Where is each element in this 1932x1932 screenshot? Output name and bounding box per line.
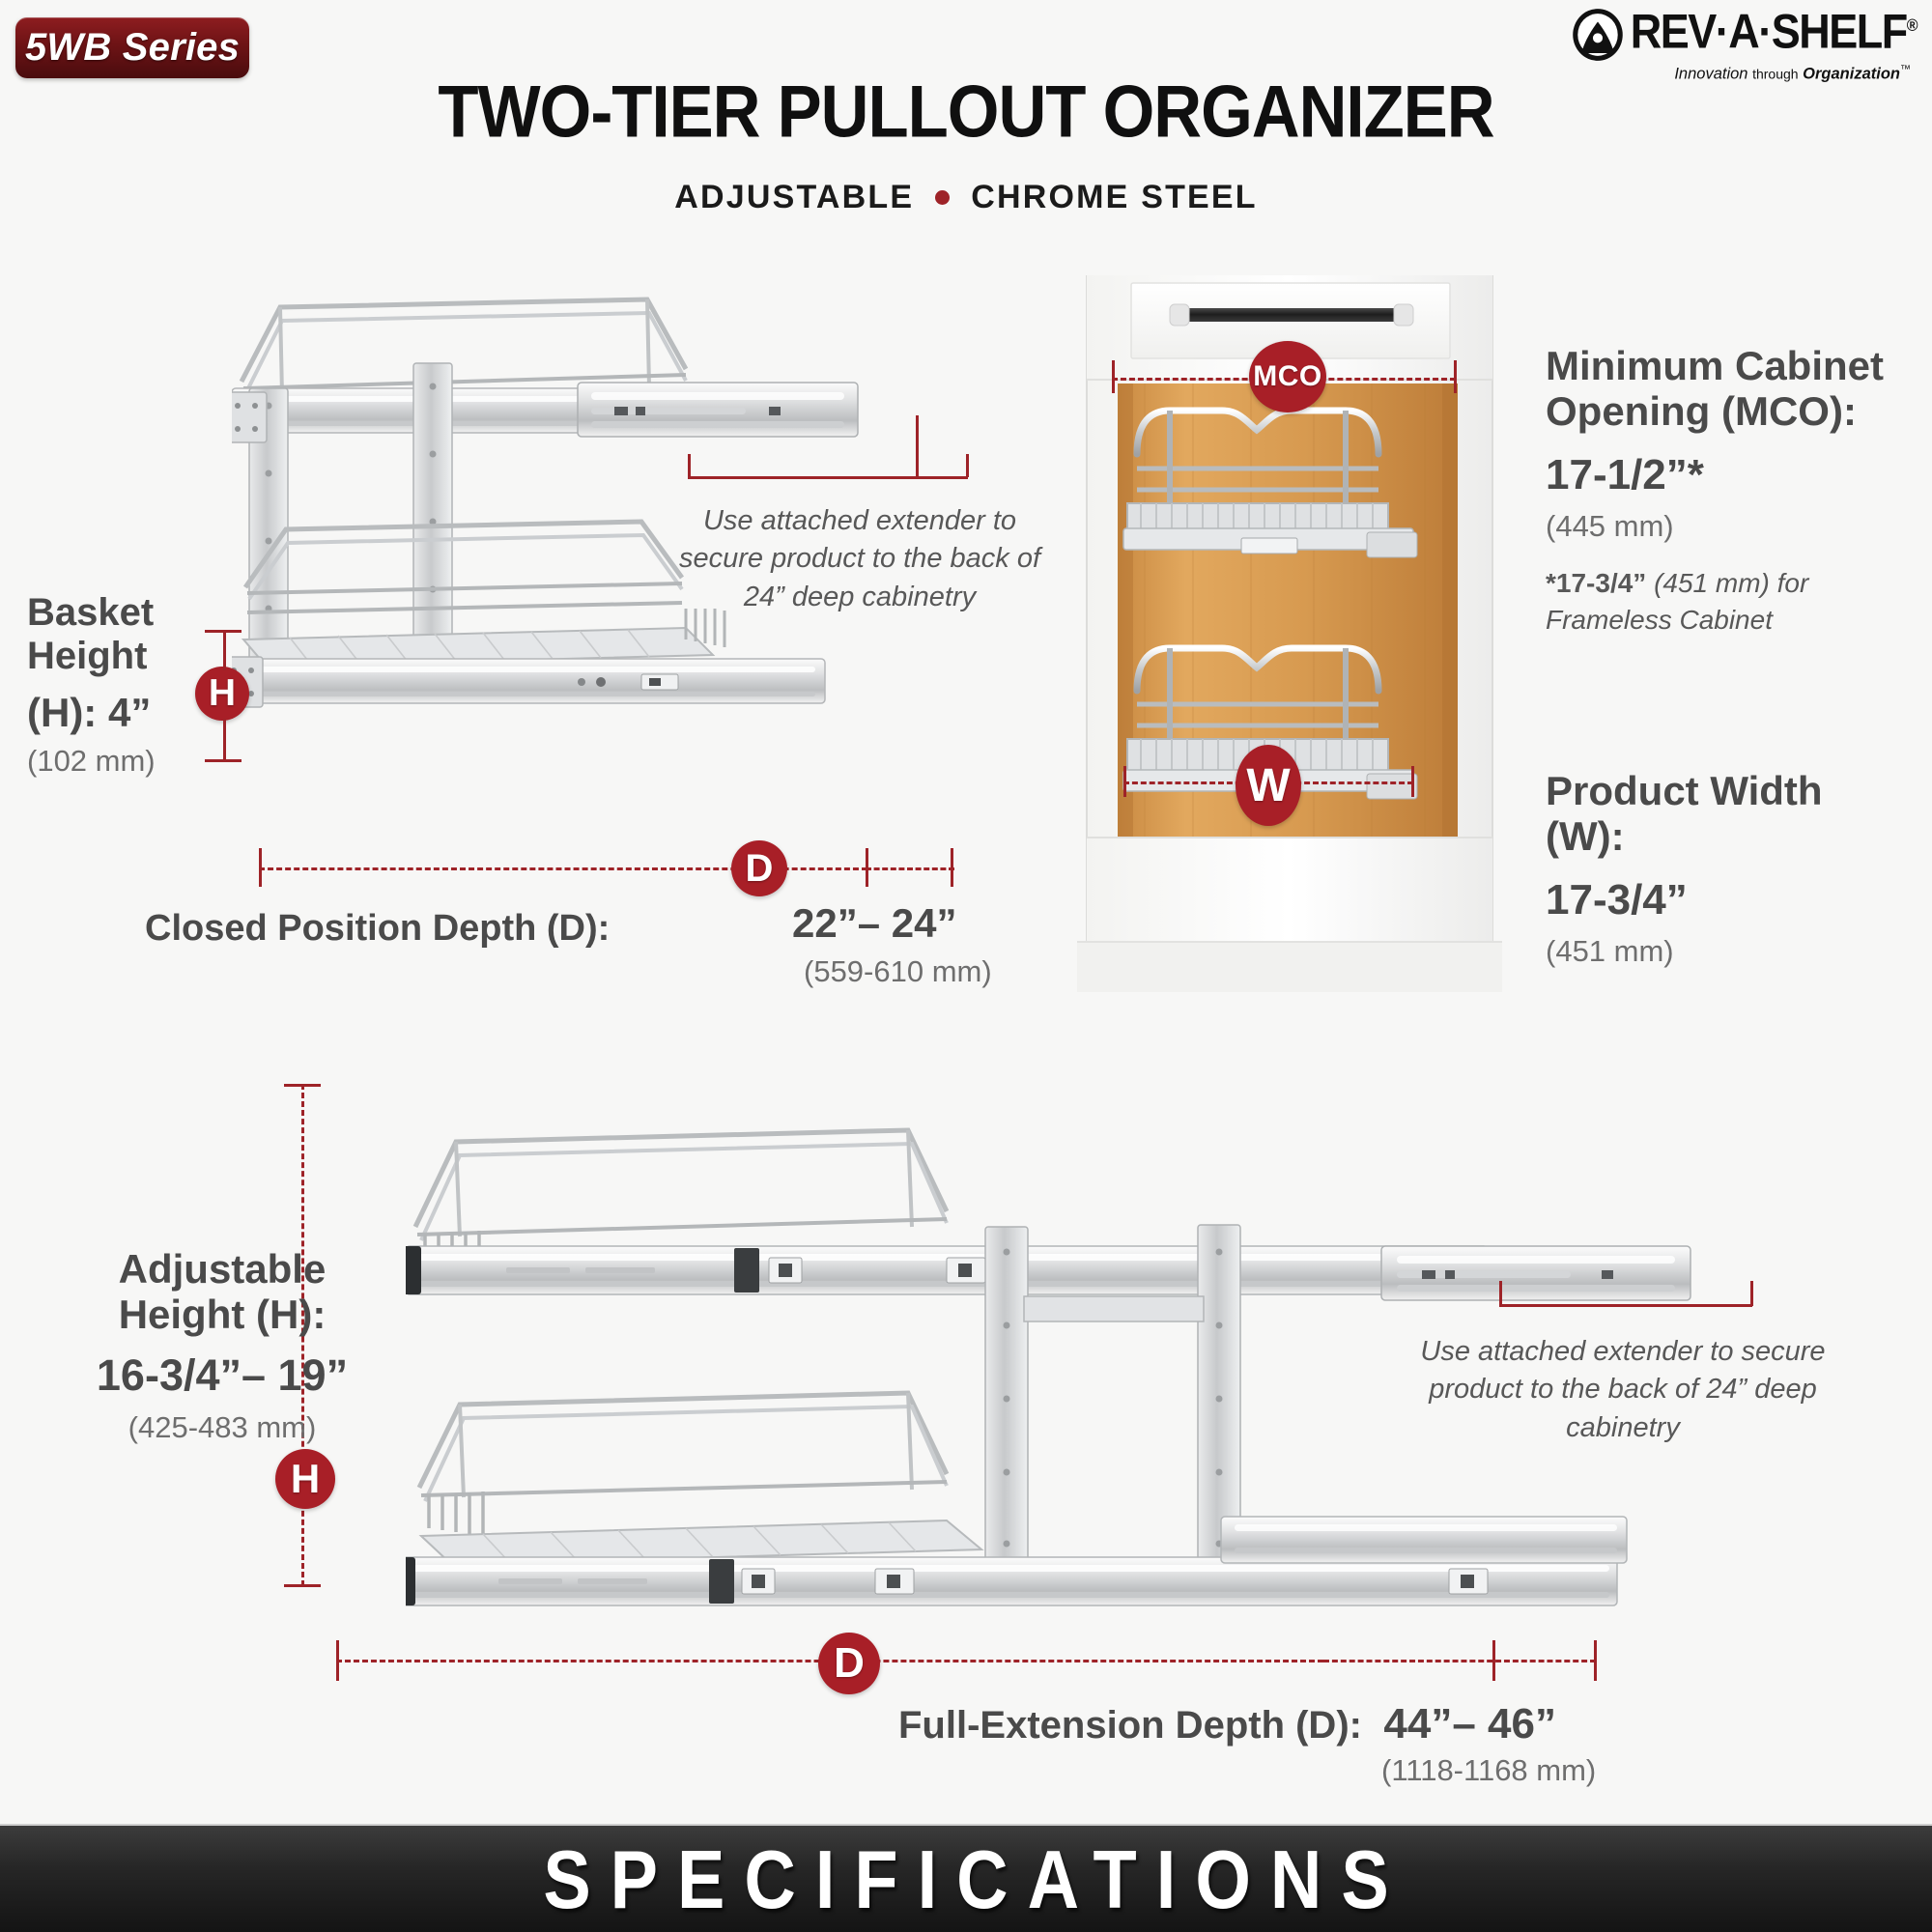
mco-mm: (445 mm) (1546, 509, 1927, 544)
product-width-tick-right (1411, 766, 1414, 797)
extender-note-top: Use attached extender to secure product … (667, 502, 1053, 616)
extender-callout-tick-left-bottom (1499, 1281, 1502, 1306)
full-depth-mm: (1118-1168 mm) (1381, 1753, 1596, 1788)
full-depth-dashline-right (1323, 1660, 1596, 1662)
closed-depth-value-block: 22”– 24” (559-610 mm) (792, 900, 1082, 989)
basket-height-tick-bottom (205, 759, 241, 762)
closed-depth-tick-left (259, 848, 262, 887)
product-width-tick-left (1123, 766, 1126, 797)
mco-footnote: *17-3/4” (451 mm) for Frameless Cabinet (1546, 565, 1927, 639)
adjustable-height-label-line2: Height (H): (87, 1292, 357, 1337)
page-subtitle: ADJUSTABLE CHROME STEEL (0, 179, 1932, 216)
adjustable-height-tick-bottom (284, 1584, 321, 1587)
mco-label-line2: Opening (MCO): (1546, 388, 1927, 434)
closed-depth-label: Closed Position Depth (D): (145, 908, 610, 949)
extender-callout-bracket-bottom (1499, 1304, 1752, 1307)
full-depth-label-block: Full-Extension Depth (D): 44”– 46” (898, 1700, 1575, 1748)
extender-note-bottom: Use attached extender to secure product … (1420, 1333, 1826, 1447)
mco-text-block: Minimum Cabinet Opening (MCO): 17-1/2”* … (1546, 343, 1927, 639)
extender-callout-tick-right-bottom (1750, 1281, 1753, 1306)
closed-depth-mm: (559-610 mm) (804, 954, 1082, 989)
cabinet-front-view-panel: MCO W (1077, 275, 1502, 1009)
product-width-mm: (451 mm) (1546, 934, 1927, 969)
full-depth-tick-left (336, 1640, 339, 1681)
marker-closed-depth-d: D (731, 840, 787, 896)
marker-basket-height-h: H (195, 667, 249, 721)
brand-registered-mark: ® (1907, 16, 1917, 35)
subtitle-adjustable: ADJUSTABLE (674, 179, 914, 216)
basket-height-line-upper (223, 630, 226, 670)
rev-a-shelf-mark-icon (1571, 8, 1625, 62)
subtitle-chrome-steel: CHROME STEEL (971, 179, 1258, 216)
spec-sheet-page: 5WB Series REV·A·SHELF® Innovation throu… (0, 0, 1932, 1932)
specifications-banner-label: SPECIFICATIONS (524, 1832, 1407, 1926)
full-depth-value: 44”– 46” (1383, 1700, 1556, 1747)
marker-adjustable-height-h: H (275, 1449, 335, 1509)
extender-callout-bracket-top-right (916, 476, 968, 479)
closed-depth-value: 22”– 24” (792, 900, 1082, 947)
mco-label-line1: Minimum Cabinet (1546, 343, 1927, 388)
product-width-label-line2: (W): (1546, 813, 1927, 859)
basket-height-mm: (102 mm) (27, 744, 220, 779)
extender-callout-bracket-top (688, 476, 918, 479)
mco-footnote-bold: *17-3/4” (1546, 568, 1646, 598)
extender-callout-tick-left-top (688, 454, 691, 477)
specifications-banner: SPECIFICATIONS (0, 1824, 1932, 1932)
product-width-label-line1: Product Width (1546, 768, 1927, 813)
closed-depth-dashline-ext (866, 867, 954, 870)
mco-value: 17-1/2”* (1546, 451, 1927, 499)
marker-full-depth-d: D (818, 1633, 880, 1694)
full-depth-label: Full-Extension Depth (D): (898, 1704, 1362, 1747)
adjustable-height-mm: (425-483 mm) (87, 1410, 357, 1445)
extender-callout-tick-right-top (966, 454, 969, 477)
mco-tick-right (1454, 360, 1457, 393)
product-width-text-block: Product Width (W): 17-3/4” (451 mm) (1546, 768, 1927, 969)
adjustable-height-label-line1: Adjustable (87, 1246, 357, 1292)
basket-height-label-line2: Height (27, 635, 220, 678)
mco-tick-left (1112, 360, 1115, 393)
marker-product-width-w: W (1236, 745, 1301, 826)
basket-height-line-lower (223, 719, 226, 759)
extender-callout-stem-top (916, 415, 919, 477)
adjustable-height-tick-top (284, 1084, 321, 1087)
marker-mco: MCO (1249, 341, 1326, 412)
adjustable-height-block: Adjustable Height (H): 16-3/4”– 19” (425… (87, 1246, 357, 1445)
product-width-value: 17-3/4” (1546, 876, 1927, 924)
brand-name: REV·A·SHELF® (1631, 4, 1917, 60)
adjustable-height-value: 16-3/4”– 19” (87, 1350, 357, 1401)
basket-height-value: (H): 4” (27, 690, 220, 736)
bullet-dot-icon (935, 190, 950, 205)
basket-height-block: Basket Height (H): 4” (102 mm) (27, 591, 220, 779)
basket-height-label-line1: Basket (27, 591, 220, 635)
series-badge-label: 5WB Series (25, 26, 240, 70)
closed-depth-label-block: Closed Position Depth (D): (145, 908, 744, 950)
page-title: TWO-TIER PULLOUT ORGANIZER (0, 70, 1932, 154)
